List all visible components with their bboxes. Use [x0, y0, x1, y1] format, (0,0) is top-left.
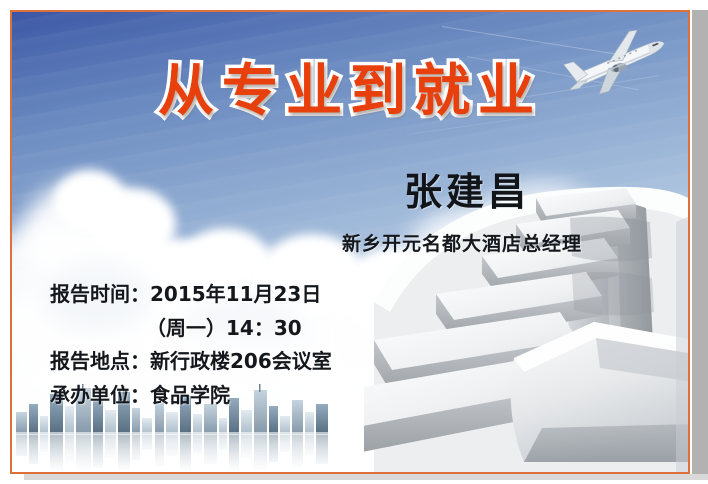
- speaker-role: 新乡开元名都大酒店总经理: [312, 234, 612, 255]
- page-title: 从专业到就业: [12, 64, 688, 120]
- lecture-details: 报告时间：2015年11月23日 （周一）14：30 报告地点：新行政楼206会…: [50, 278, 332, 412]
- detail-row-host: 承办单位：食品学院: [50, 379, 332, 413]
- poster-canvas: 从专业到就业 从专业到就业 张建昌 新乡开元名都大酒店总经理 报告时间：2015…: [0, 0, 708, 484]
- detail-row-time: 报告时间：2015年11月23日: [50, 278, 332, 312]
- right-grey-strip: [692, 10, 708, 474]
- detail-row-weekday: （周一）14：30: [50, 312, 332, 346]
- poster-frame: 从专业到就业 从专业到就业 张建昌 新乡开元名都大酒店总经理 报告时间：2015…: [10, 10, 690, 474]
- bottom-grey-strip: [24, 474, 708, 480]
- speaker-name: 张建昌: [342, 172, 592, 214]
- detail-row-place: 报告地点：新行政楼206会议室: [50, 345, 332, 379]
